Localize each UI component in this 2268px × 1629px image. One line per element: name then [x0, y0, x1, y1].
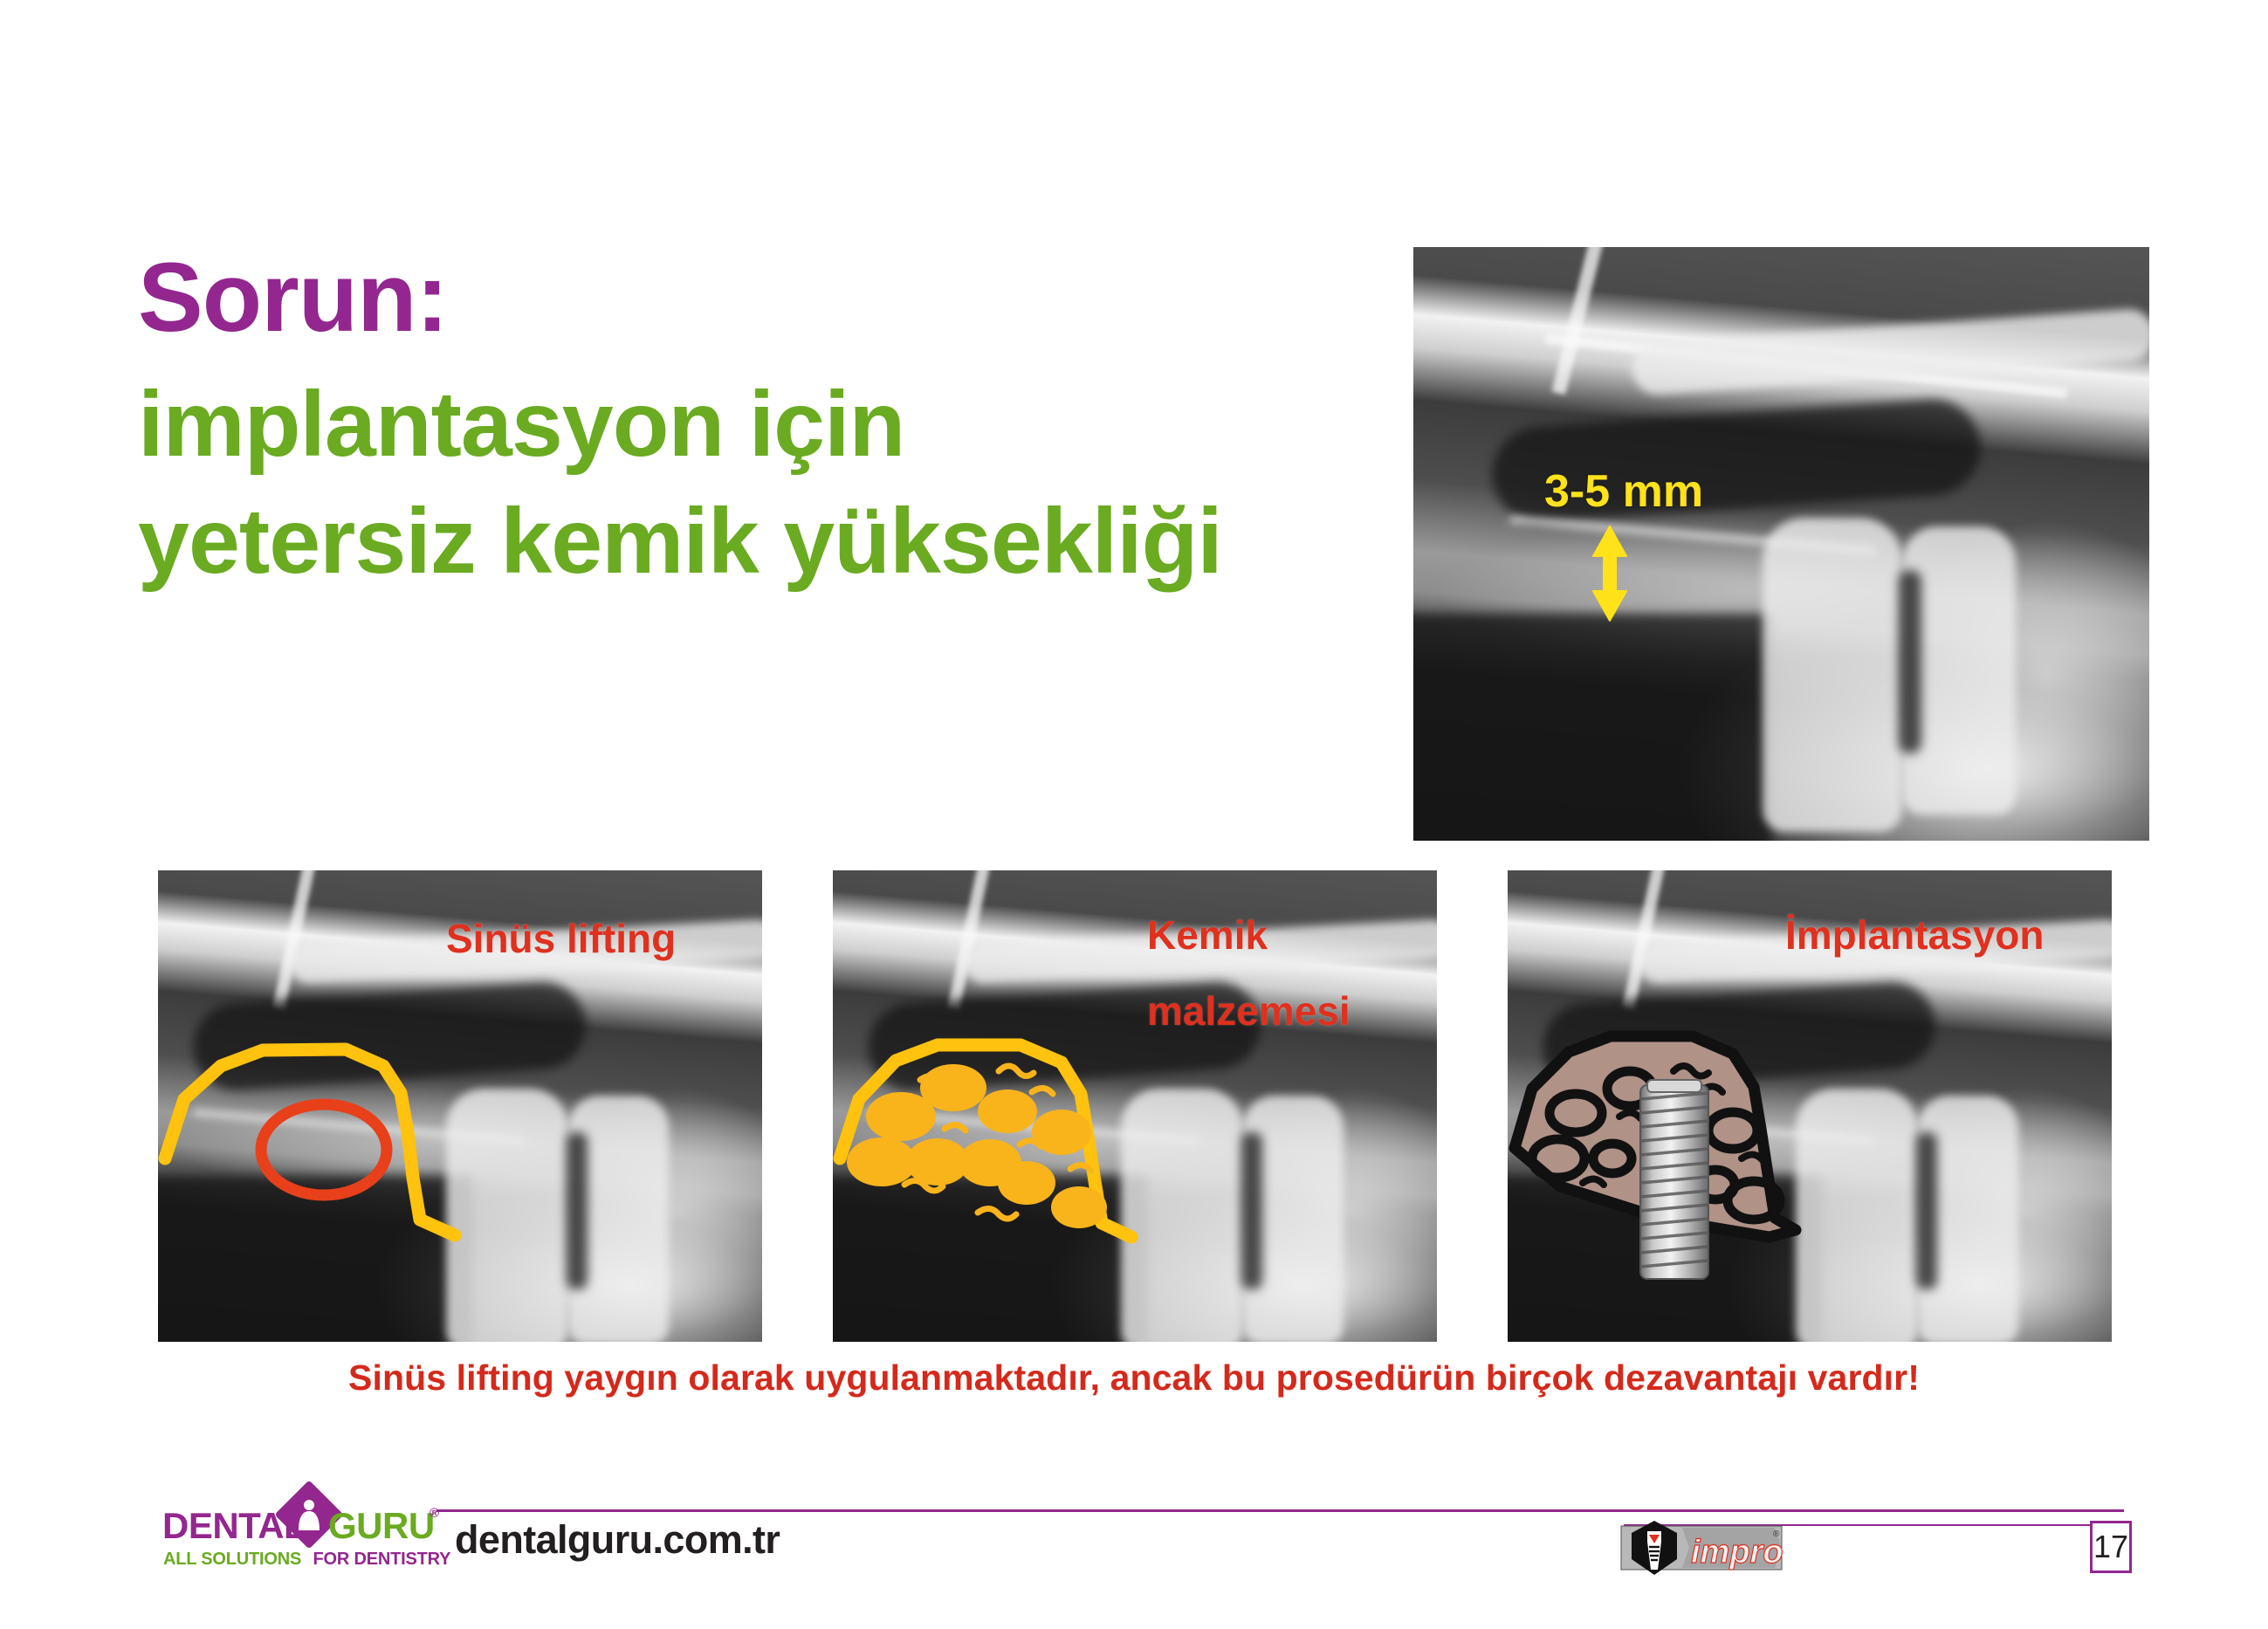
panel-sinus-lifting: Sinüs lifting — [158, 870, 762, 1342]
xray-tooth-1 — [1763, 518, 1902, 832]
panel-implantation: İmplantasyon — [1508, 870, 2112, 1342]
page-title-line-2: implantasyon için — [138, 378, 1430, 471]
slide-title-block: Sorun: implantasyon için yetersiz kemik … — [138, 249, 1430, 588]
dental-implant-screw — [1640, 1080, 1708, 1279]
xray-interdental-gap — [1899, 570, 1921, 753]
panel-bone-material: Kemik malzemesi — [833, 870, 1437, 1342]
panel3-label: İmplantasyon — [1785, 912, 2045, 959]
hero-xray-image: 3-5 mm — [1413, 247, 2149, 841]
panel-row: Sinüs lifting — [158, 870, 2112, 1342]
xray-lower-dark — [1413, 614, 1771, 841]
impro-partner-logo[interactable]: impro ® — [1619, 1517, 1785, 1578]
impro-wordmark: impro — [1691, 1534, 1783, 1571]
page-number: 17 — [2093, 1523, 2129, 1571]
guru-figure-icon — [295, 1497, 323, 1537]
registered-mark-icon: ® — [430, 1506, 439, 1521]
page-number-box: 17 — [2090, 1521, 2132, 1573]
website-url[interactable]: dentalguru.com.tr — [455, 1517, 780, 1563]
double-headed-vertical-arrow-icon — [1586, 525, 1633, 622]
logo-tagline-part-1: ALL SOLUTIONS — [163, 1550, 301, 1569]
panel1-label: Sinüs lifting — [446, 916, 676, 962]
footer-divider-rule — [436, 1509, 2124, 1512]
dentalguru-logo[interactable]: DENTAL GURU ® ALL SOLUTIONS FOR DENTISTR… — [162, 1502, 442, 1577]
panel2-label-line-2: malzemesi — [1147, 988, 1350, 1034]
page-title-line-3: yetersiz kemik yüksekliği — [138, 495, 1430, 588]
impro-registered-mark: ® — [1773, 1529, 1780, 1539]
page-title-line-1: Sorun: — [138, 249, 1430, 347]
logo-tagline-part-2: FOR DENTISTRY — [313, 1550, 451, 1569]
logo-word-guru: GURU — [328, 1508, 435, 1544]
red-ellipse-highlight — [261, 1104, 387, 1195]
logo-tagline: ALL SOLUTIONS FOR DENTISTRY — [163, 1550, 450, 1570]
measurement-label: 3-5 mm — [1544, 465, 1703, 518]
yellow-membrane-outline — [165, 1049, 455, 1235]
slide-caption: Sinüs lifting yaygın olarak uygulanmakta… — [0, 1357, 2268, 1399]
panel2-label-line-1: Kemik — [1147, 912, 1350, 959]
panel2-label: Kemik malzemesi — [1147, 912, 1350, 1034]
bone-graft-particles — [847, 1064, 1107, 1228]
